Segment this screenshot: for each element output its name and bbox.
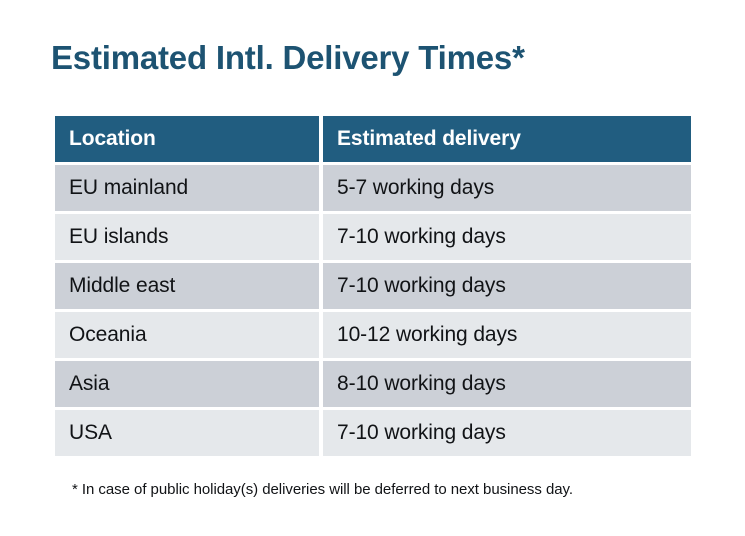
table-row: Middle east 7-10 working days xyxy=(55,263,691,309)
table-header: Location Estimated delivery xyxy=(55,116,691,162)
cell-location: Oceania xyxy=(55,312,319,358)
table-row: USA 7-10 working days xyxy=(55,410,691,456)
cell-estimated-delivery: 7-10 working days xyxy=(323,410,691,456)
cell-estimated-delivery: 5-7 working days xyxy=(323,165,691,211)
page-title: Estimated Intl. Delivery Times* xyxy=(51,36,525,80)
table-row: EU islands 7-10 working days xyxy=(55,214,691,260)
table-row: Asia 8-10 working days xyxy=(55,361,691,407)
cell-estimated-delivery: 7-10 working days xyxy=(323,263,691,309)
table-header-row: Location Estimated delivery xyxy=(55,116,691,162)
cell-location: EU islands xyxy=(55,214,319,260)
column-header-location: Location xyxy=(55,116,319,162)
cell-estimated-delivery: 8-10 working days xyxy=(323,361,691,407)
estimated-delivery-times-table: Location Estimated delivery EU mainland … xyxy=(51,113,695,459)
table-footnote: * In case of public holiday(s) deliverie… xyxy=(72,479,573,501)
cell-estimated-delivery: 10-12 working days xyxy=(323,312,691,358)
cell-location: EU mainland xyxy=(55,165,319,211)
table-row: Oceania 10-12 working days xyxy=(55,312,691,358)
cell-location: Middle east xyxy=(55,263,319,309)
table-body: EU mainland 5-7 working days EU islands … xyxy=(55,165,691,456)
table-row: EU mainland 5-7 working days xyxy=(55,165,691,211)
cell-location: USA xyxy=(55,410,319,456)
column-header-estimated-delivery: Estimated delivery xyxy=(323,116,691,162)
cell-estimated-delivery: 7-10 working days xyxy=(323,214,691,260)
delivery-times-document: Estimated Intl. Delivery Times* Location… xyxy=(0,0,745,536)
cell-location: Asia xyxy=(55,361,319,407)
